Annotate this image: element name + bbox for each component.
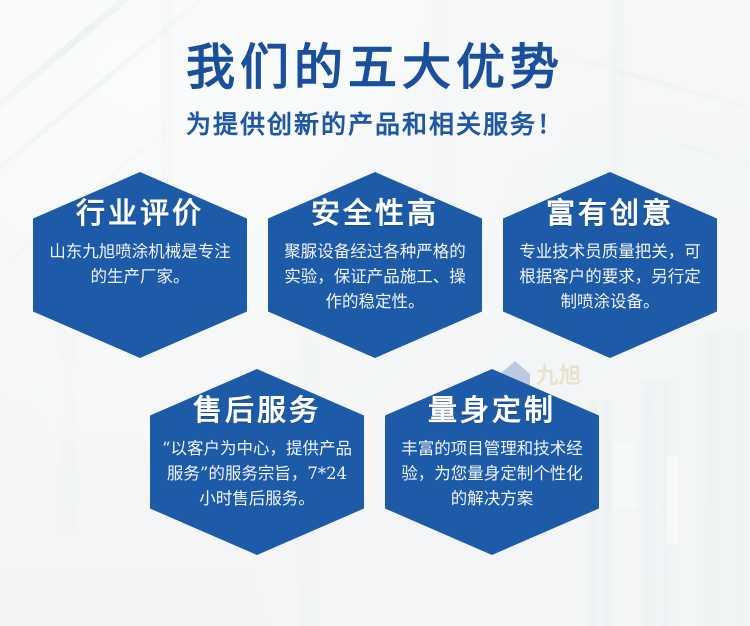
- promo-banner: 九旭 我们的五大优势 为提供创新的产品和相关服务！ 行业评价 山东九旭喷涂机械是…: [0, 0, 750, 626]
- advantage-heading: 行业评价: [76, 198, 204, 230]
- advantage-body: 聚脲设备经过各种严格的实验，保证产品施工、操作的稳定性。: [277, 239, 473, 314]
- advantage-heading: 售后服务: [193, 395, 321, 427]
- watermark-logo-text: 九旭: [536, 358, 582, 390]
- heading-block: 我们的五大优势 为提供创新的产品和相关服务！: [0, 0, 750, 141]
- advantage-body: 丰富的项目管理和技术经验，为您量身定制个性化的解决方案: [394, 436, 590, 511]
- page-subtitle: 为提供创新的产品和相关服务！: [0, 105, 750, 141]
- advantage-body: 山东九旭喷涂机械是专注的生产厂家。: [42, 239, 238, 289]
- page-title: 我们的五大优势: [0, 42, 750, 93]
- advantage-heading: 富有创意: [546, 198, 674, 230]
- advantage-heading: 安全性高: [311, 198, 439, 230]
- advantage-body: “以客户为中心，提供产品服务”的服务宗旨，7*24小时售后服务。: [159, 436, 355, 511]
- advantage-body: 专业技术员质量把关，可根据客户的要求，另行定制喷涂设备。: [512, 239, 708, 314]
- advantage-heading: 量身定制: [428, 395, 556, 427]
